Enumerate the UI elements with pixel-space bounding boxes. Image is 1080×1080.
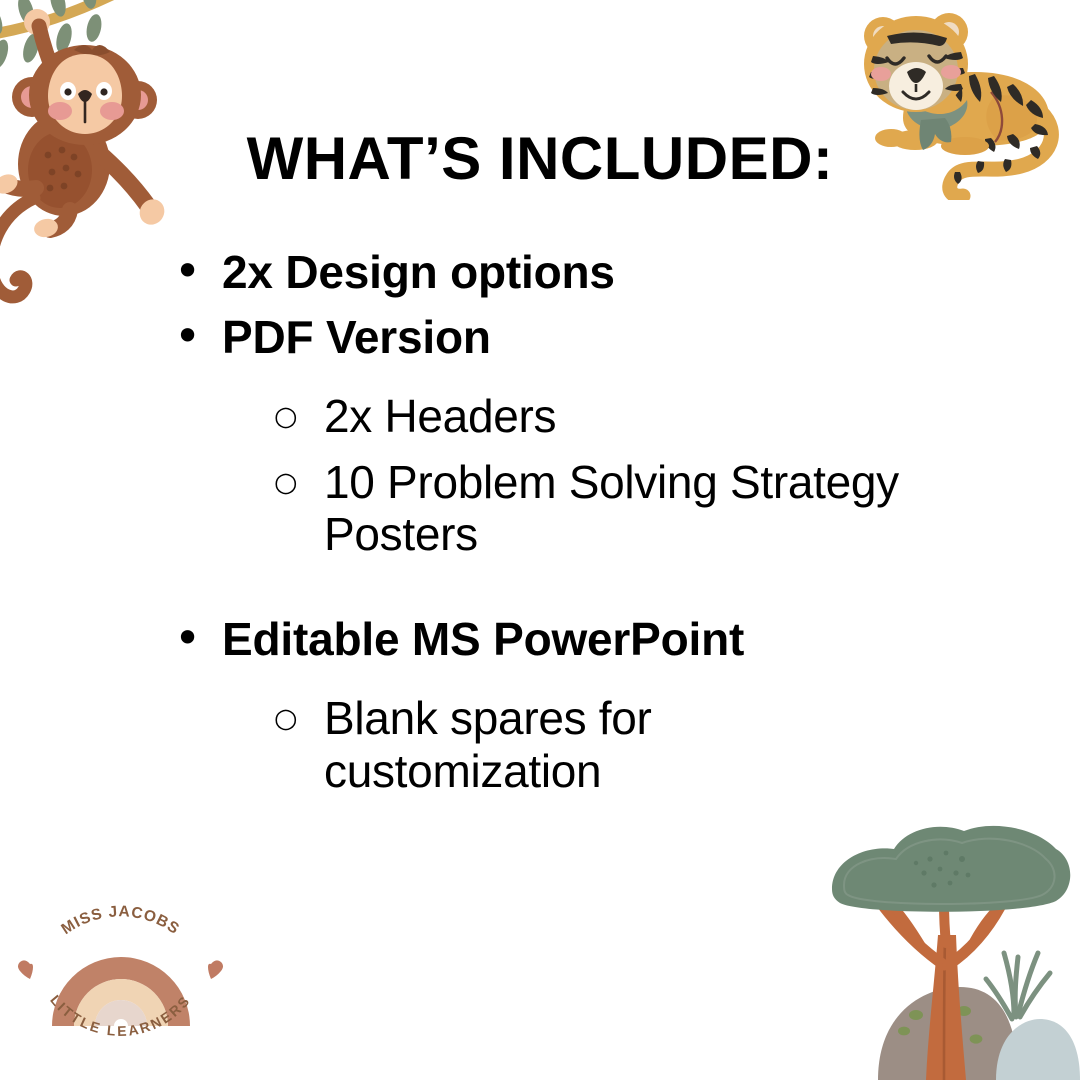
bullet-hollow-icon: ○ (274, 456, 324, 510)
sub-list-item: ○ 2x Headers (170, 390, 1050, 444)
list-item: • Editable MS PowerPoint (170, 615, 1050, 664)
sub-list-item-label: 10 Problem Solving Strategy Posters (324, 456, 924, 562)
bullet-hollow-icon: ○ (274, 692, 324, 746)
bullet-filled-icon: • (170, 313, 222, 360)
bullet-hollow-icon: ○ (274, 390, 324, 444)
included-list: • 2x Design options • PDF Version ○ 2x H… (170, 248, 1050, 800)
sub-list-item: ○ Blank spares for customization (170, 692, 1050, 798)
bullet-filled-icon: • (170, 615, 222, 662)
sub-list-item-label: Blank spares for customization (324, 692, 924, 798)
sub-list-item: ○ 10 Problem Solving Strategy Posters (170, 456, 1050, 562)
page-title: WHAT’S INCLUDED: (0, 124, 1080, 193)
slide-canvas: MISS JACOBS LITTLE LEARNERS WHAT’S INCLU… (0, 0, 1080, 1080)
list-item: • 2x Design options (170, 248, 1050, 297)
bullet-filled-icon: • (170, 248, 222, 295)
list-item: • PDF Version (170, 313, 1050, 362)
list-item-label: 2x Design options (222, 248, 615, 297)
sub-list-item-label: 2x Headers (324, 390, 556, 443)
list-item-label: Editable MS PowerPoint (222, 615, 744, 664)
text-content: WHAT’S INCLUDED: • 2x Design options • P… (0, 0, 1080, 1080)
list-item-label: PDF Version (222, 313, 491, 362)
